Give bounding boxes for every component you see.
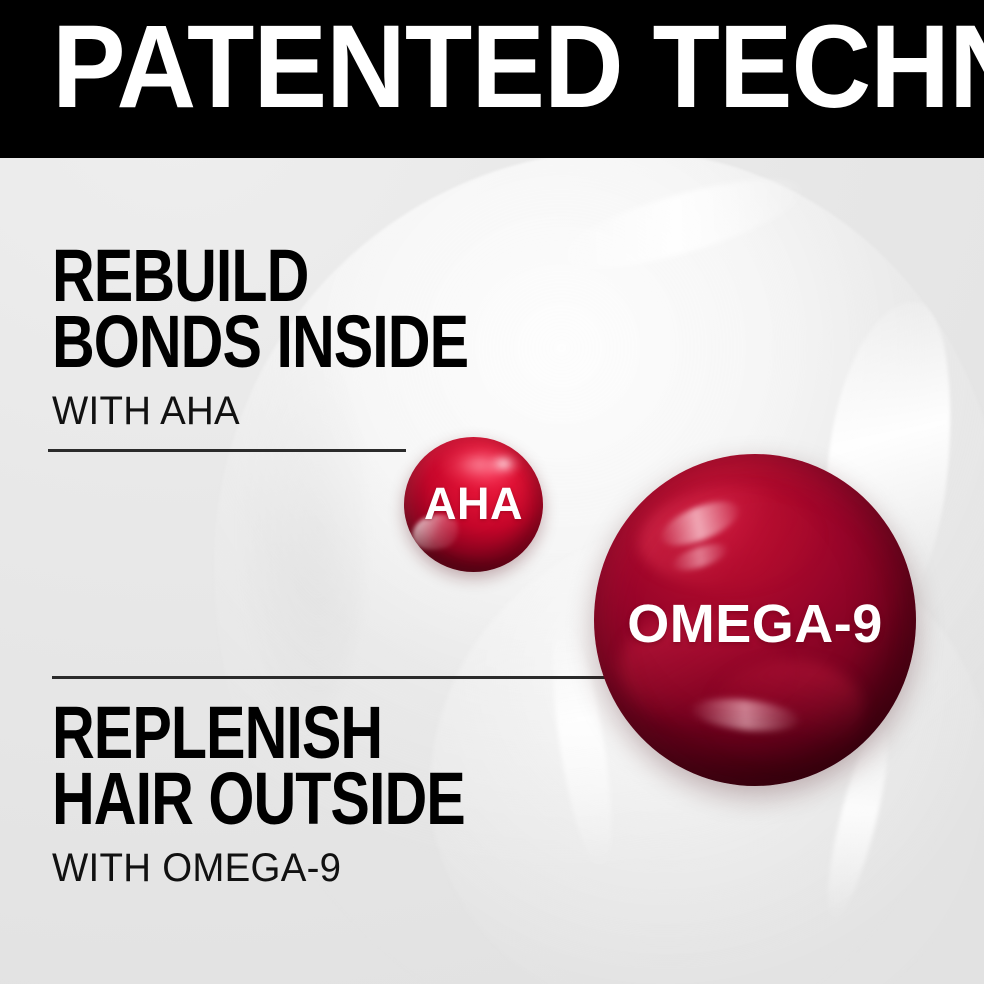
benefit-subline: WITH OMEGA-9 [52,846,547,890]
ingredient-bubble-aha: AHA [404,437,543,572]
connector-rule-aha [48,449,406,452]
benefit-headline-line2: HAIR OUTSIDE [52,766,465,832]
benefit-block-replenish: REPLENISH HAIR OUTSIDE WITH OMEGA-9 [52,700,568,890]
benefit-headline-line2: BONDS INSIDE [52,309,468,375]
header-banner: PATENTED TECHNOLOGY [0,0,984,158]
ingredient-bubble-omega9: OMEGA-9 [594,454,916,786]
ingredient-label-omega9: OMEGA-9 [627,597,883,651]
header-title: PATENTED TECHNOLOGY [52,8,884,126]
benefit-subline: WITH AHA [52,389,551,433]
connector-rule-omega9 [52,676,605,679]
patented-technology-graphic: PATENTED TECHNOLOGY REBUILD BONDS INSIDE… [0,0,984,984]
benefit-block-rebuild: REBUILD BONDS INSIDE WITH AHA [52,243,572,433]
ingredient-label-aha: AHA [424,481,523,526]
